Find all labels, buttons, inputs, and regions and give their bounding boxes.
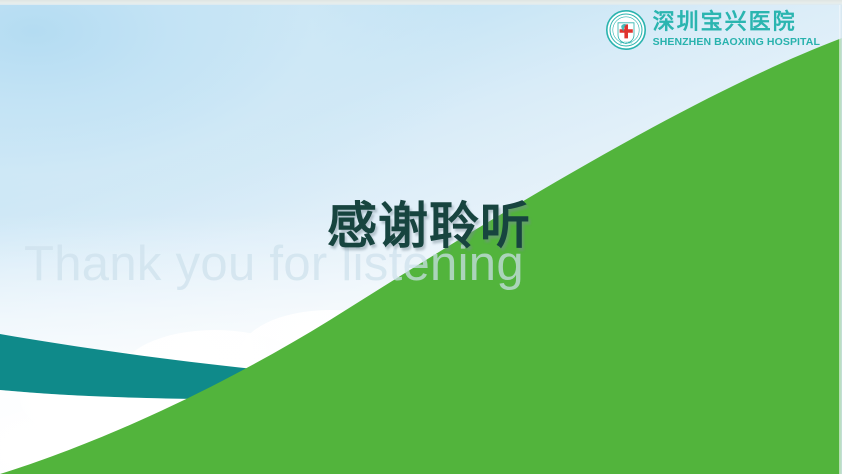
closing-slide: Thank you for listening 感谢聆听 BAOXING 深圳宝… <box>0 0 842 474</box>
hospital-logo: BAOXING 深圳宝兴医院 SHENZHEN BAOXING HOSPITAL <box>606 10 820 50</box>
hospital-emblem-icon: BAOXING <box>606 10 646 50</box>
hospital-name-en: SHENZHEN BAOXING HOSPITAL <box>653 37 820 48</box>
svg-text:BAOXING: BAOXING <box>619 41 632 45</box>
hospital-name-cn: 深圳宝兴医院 <box>653 12 820 34</box>
top-edge-strip <box>0 0 842 5</box>
hospital-logo-text: 深圳宝兴医院 SHENZHEN BAOXING HOSPITAL <box>653 12 820 48</box>
page-title: 感谢聆听 <box>327 186 531 258</box>
